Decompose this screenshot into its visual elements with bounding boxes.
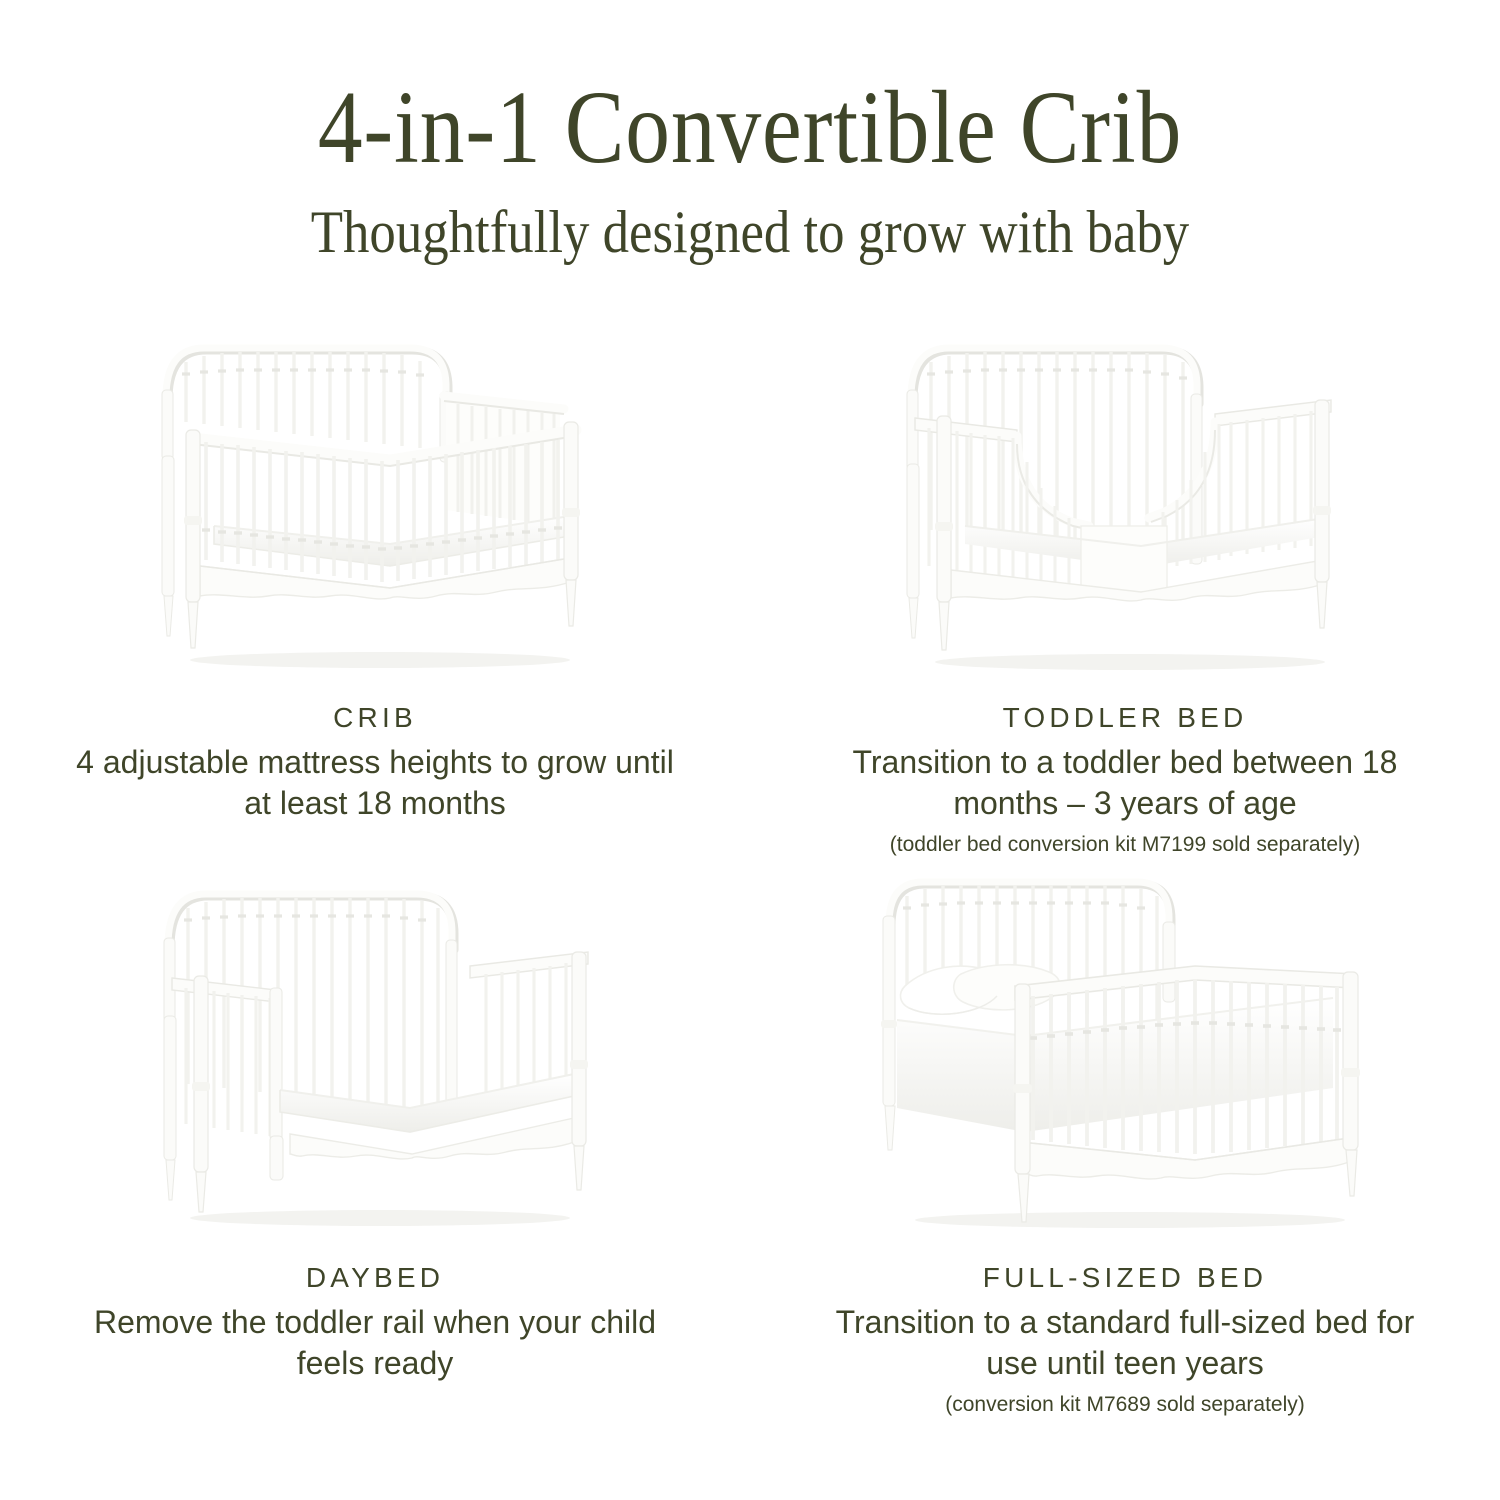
daybed-illustration-wrap [0, 870, 750, 1240]
mode-note-toddler-bed: (toddler bed conversion kit M7199 sold s… [890, 831, 1360, 858]
conversion-modes-grid: CRIB 4 adjustable mattress heights to gr… [0, 330, 1500, 1410]
mode-card-full-sized-bed: FULL-SIZED BED Transition to a standard … [750, 870, 1500, 1410]
mode-card-crib: CRIB 4 adjustable mattress heights to gr… [0, 330, 750, 870]
page-title: 4-in-1 Convertible Crib [105, 76, 1395, 180]
header: 4-in-1 Convertible Crib Thoughtfully des… [0, 0, 1500, 262]
daybed-illustration [140, 870, 610, 1240]
full-sized-bed-illustration-wrap [750, 870, 1500, 1240]
mode-heading-crib: CRIB [333, 702, 417, 734]
crib-illustration [140, 330, 610, 680]
mode-description-full-sized-bed: Transition to a standard full-sized bed … [815, 1302, 1435, 1384]
mode-description-crib: 4 adjustable mattress heights to grow un… [65, 742, 685, 824]
toddler-bed-illustration-wrap [750, 330, 1500, 680]
toddler-bed-illustration [885, 330, 1365, 680]
mode-description-daybed: Remove the toddler rail when your child … [65, 1302, 685, 1384]
mode-description-toddler-bed: Transition to a toddler bed between 18 m… [815, 742, 1435, 824]
mode-heading-full-sized-bed: FULL-SIZED BED [983, 1262, 1267, 1294]
mode-note-full-sized-bed: (conversion kit M7689 sold separately) [945, 1391, 1305, 1418]
full-sized-bed-illustration [865, 870, 1385, 1240]
page-subtitle: Thoughtfully designed to grow with baby [90, 202, 1410, 262]
mode-heading-daybed: DAYBED [306, 1262, 444, 1294]
mode-card-daybed: DAYBED Remove the toddler rail when your… [0, 870, 750, 1410]
crib-illustration-wrap [0, 330, 750, 680]
mode-card-toddler-bed: TODDLER BED Transition to a toddler bed … [750, 330, 1500, 870]
mode-heading-toddler-bed: TODDLER BED [1003, 702, 1248, 734]
